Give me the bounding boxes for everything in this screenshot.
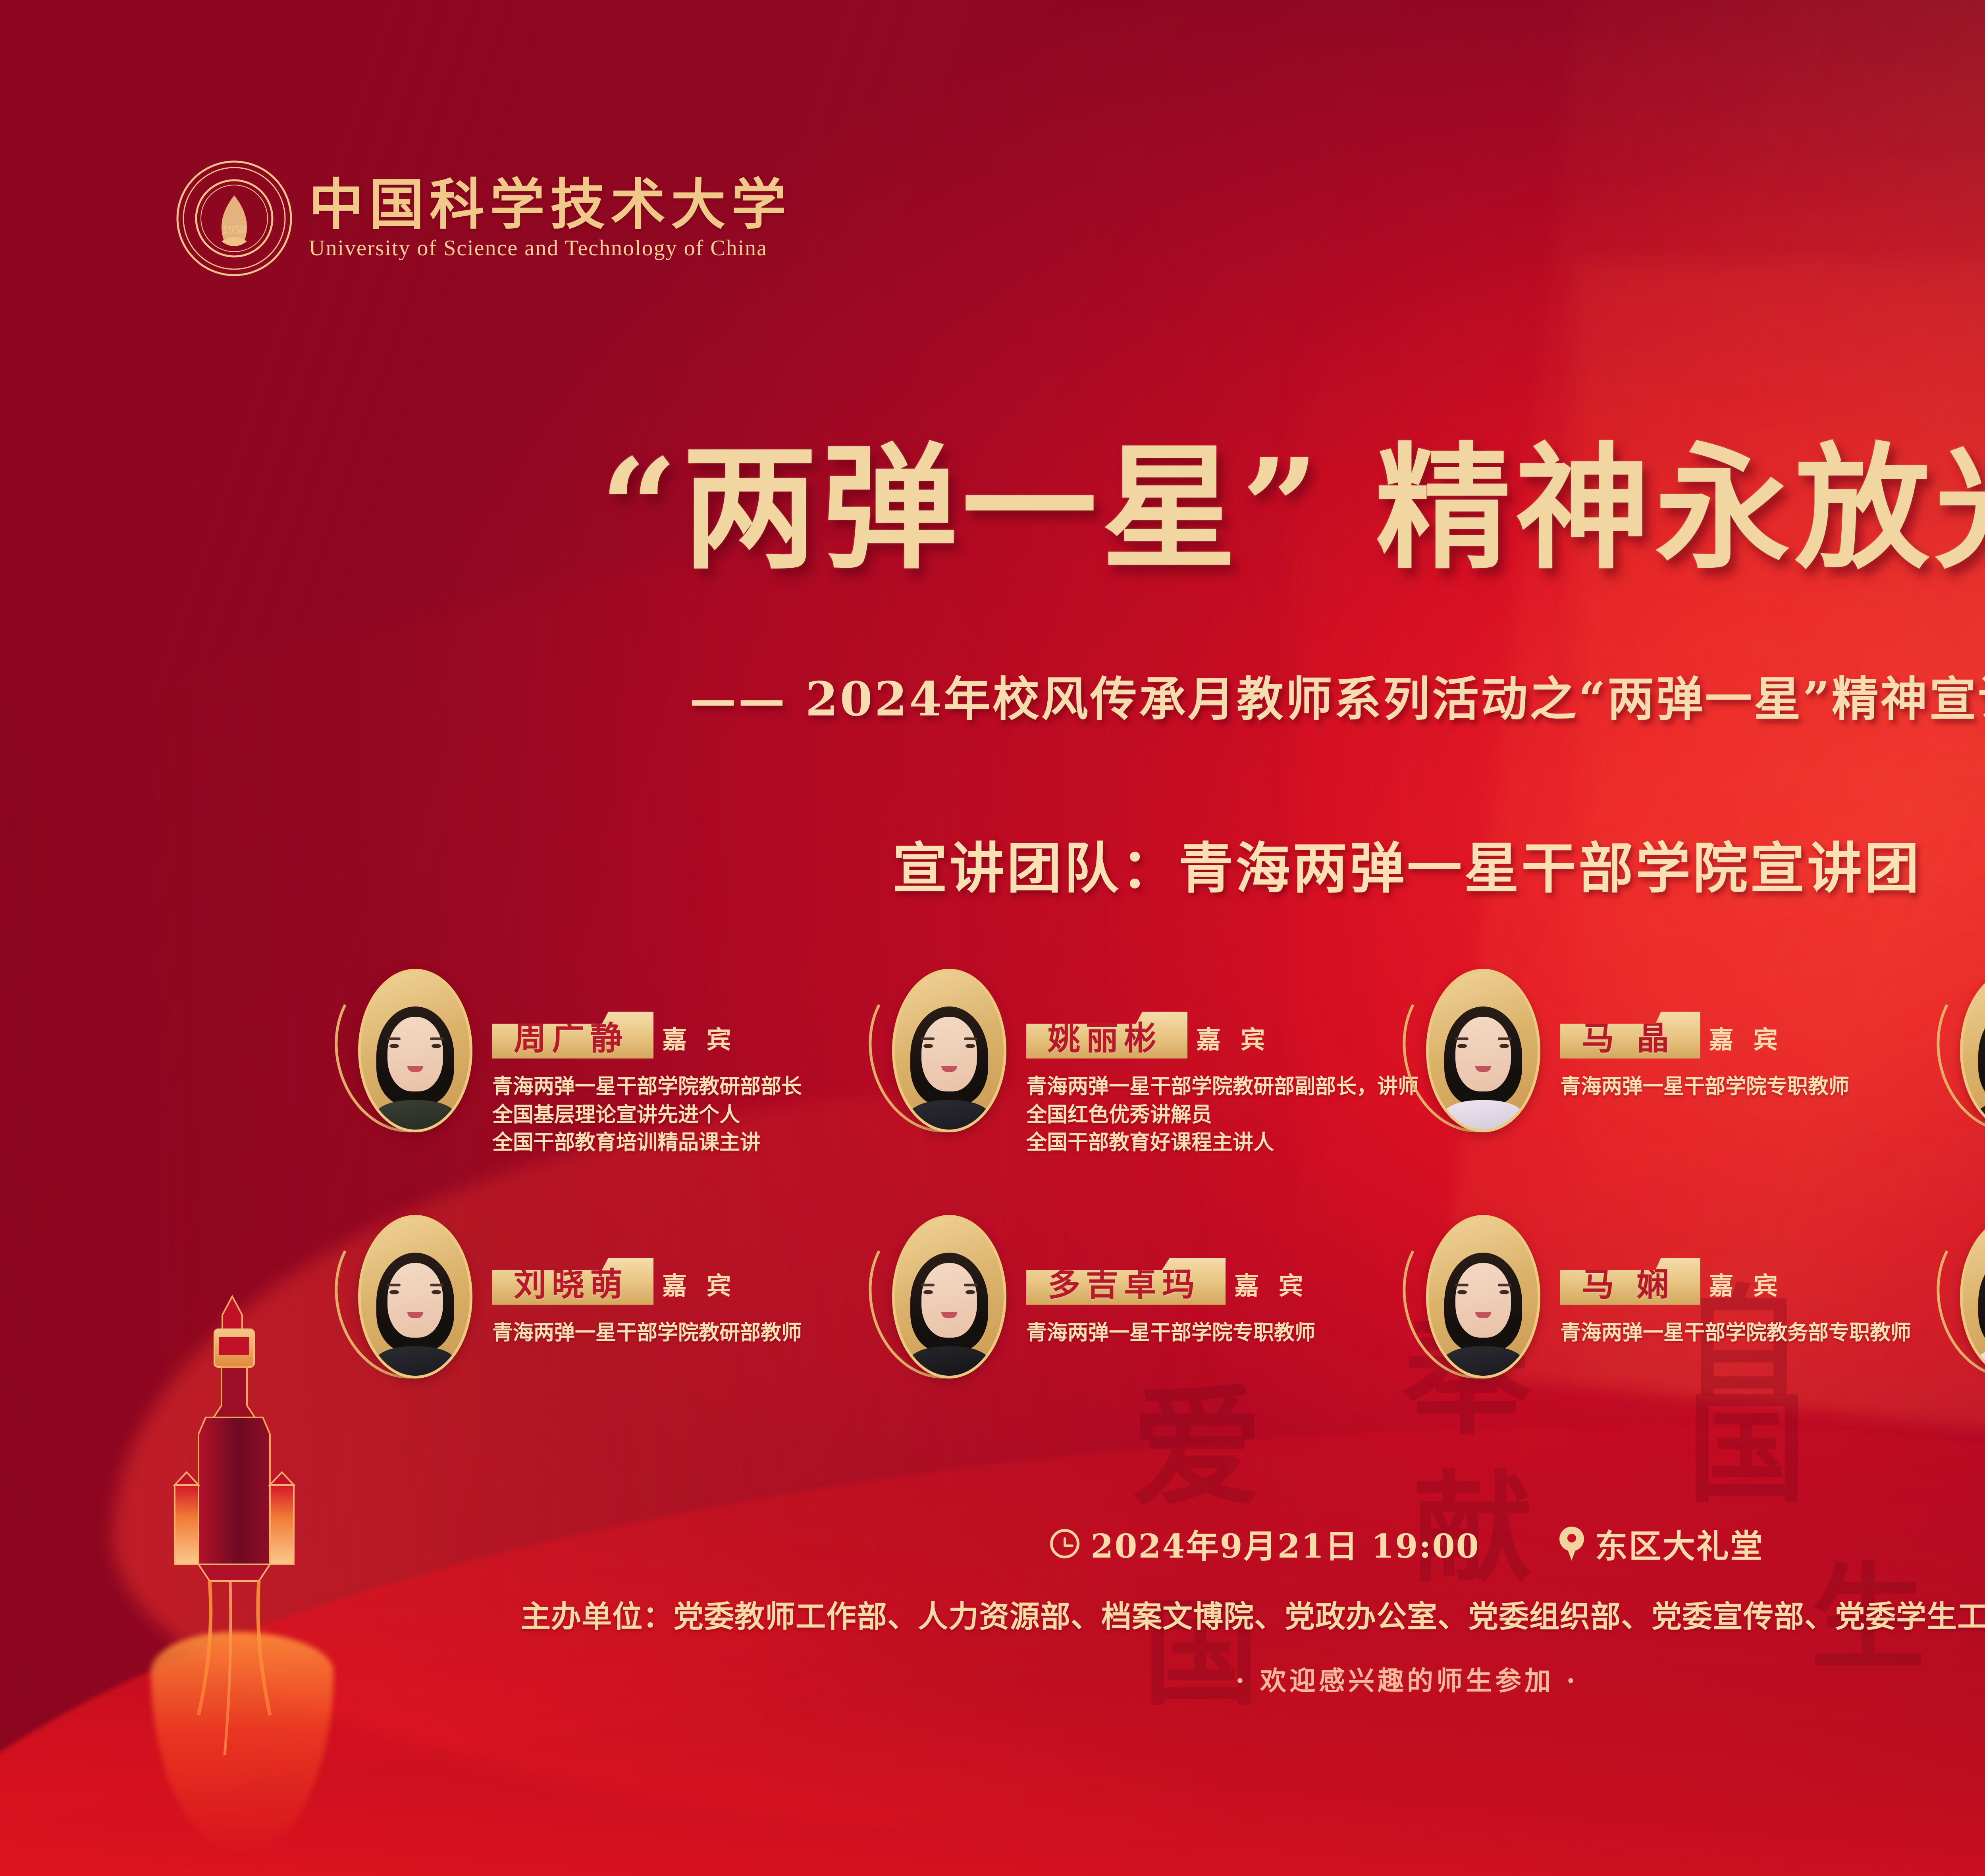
- rocket-illustration: [151, 1286, 333, 1854]
- speaker-credential: 青海两弹一星干部学院教研部教师: [492, 1319, 802, 1347]
- speaker-avatar: [883, 969, 1014, 1136]
- speaker-credentials: 青海两弹一星干部学院教务部专职教师: [1560, 1319, 1911, 1347]
- welcome-note: · 欢迎感兴趣的师生参加 ·: [0, 1660, 1985, 1698]
- speaker-credential: 全国基层理论宣讲先进个人: [492, 1101, 802, 1129]
- speaker-card[interactable]: 姚丽彬嘉 宾青海两弹一星干部学院教研部副部长，讲师全国红色优秀讲解员全国干部教育…: [883, 965, 1417, 1211]
- speaker-name-plate: 刘晓萌: [492, 1258, 653, 1305]
- speaker-credentials: 青海两弹一星干部学院专职教师: [1560, 1073, 1849, 1101]
- speaker-portrait: [1444, 1253, 1522, 1379]
- avatar-frame: [1426, 1215, 1540, 1379]
- speaker-name-row: 刘晓萌嘉 宾: [492, 1258, 653, 1305]
- speaker-role-badge: 嘉 宾: [662, 1020, 737, 1055]
- event-meta-row: 2024年9月21日 19:00 东区大礼堂: [0, 1520, 1985, 1567]
- speaker-name-plate: 马 娴: [1560, 1258, 1700, 1305]
- speaker-credential: 青海两弹一星干部学院教研部部长: [492, 1073, 802, 1101]
- speaker-portrait: [1978, 1006, 1985, 1132]
- speaker-credential: 青海两弹一星干部学院教务部专职教师: [1560, 1319, 1911, 1347]
- speaking-team-line: 宣讲团队：青海两弹一星干部学院宣讲团: [0, 824, 1985, 903]
- speaker-info: 马 娴嘉 宾青海两弹一星干部学院教务部专职教师: [1560, 1211, 1911, 1347]
- poster-subtitle: —— 2024年校风传承月教师系列活动之“两弹一星”精神宣讲活动: [0, 661, 1985, 729]
- speaker-role-badge: 嘉 宾: [1196, 1020, 1271, 1055]
- avatar-frame: [892, 969, 1006, 1132]
- speaker-role-badge: 嘉 宾: [662, 1266, 737, 1301]
- speaker-role-badge: 嘉 宾: [1234, 1266, 1309, 1301]
- speaker-credential: 全国干部教育好课程主讲人: [1026, 1129, 1418, 1157]
- speaker-card[interactable]: 马 晶嘉 宾青海两弹一星干部学院专职教师: [1417, 965, 1951, 1211]
- speaker-card[interactable]: 马 娴嘉 宾青海两弹一星干部学院教务部专职教师: [1417, 1211, 1951, 1457]
- speaker-name-plate: 周广静: [492, 1012, 653, 1059]
- speaker-name: 多吉卓玛: [1048, 1258, 1200, 1305]
- speaker-portrait: [910, 1253, 989, 1379]
- speaker-info: 马 晶嘉 宾青海两弹一星干部学院专职教师: [1560, 965, 1849, 1101]
- speaker-name-row: 马 娴嘉 宾: [1560, 1258, 1700, 1305]
- speaker-info: 姚丽彬嘉 宾青海两弹一星干部学院教研部副部长，讲师全国红色优秀讲解员全国干部教育…: [1026, 965, 1418, 1157]
- speaker-name-row: 周广静嘉 宾: [492, 1012, 653, 1059]
- speaker-avatar: [883, 1215, 1014, 1382]
- avatar-frame: [892, 1215, 1006, 1379]
- event-datetime: 2024年9月21日 19:00: [1091, 1520, 1480, 1567]
- speaker-portrait: [1978, 1253, 1985, 1379]
- speaker-name-plate: 姚丽彬: [1026, 1012, 1187, 1059]
- speaker-avatar: [1417, 1215, 1548, 1382]
- speaker-name: 姚丽彬: [1048, 1012, 1162, 1059]
- speaker-role-badge: 嘉 宾: [1709, 1020, 1784, 1055]
- event-venue: 东区大礼堂: [1595, 1520, 1764, 1567]
- speaker-credentials: 青海两弹一星干部学院教研部部长全国基层理论宣讲先进个人全国干部教育培训精品课主讲: [492, 1073, 802, 1157]
- usc-seal-icon: 1958: [175, 159, 294, 278]
- speaker-credential: 全国红色优秀讲解员: [1026, 1101, 1418, 1129]
- speaker-name: 周广静: [514, 1012, 628, 1059]
- university-logo-block: 1958 中国科学技术大学 University of Science and …: [175, 159, 792, 278]
- speaker-credentials: 青海两弹一星干部学院教研部教师: [492, 1319, 802, 1347]
- organizers-line: 主办单位：党委教师工作部、人力资源部、档案文博院、党政办公室、党委组织部、党委宣…: [0, 1592, 1985, 1636]
- speaker-card[interactable]: 刘晓萌嘉 宾青海两弹一星干部学院教研部教师: [349, 1211, 883, 1457]
- speaker-portrait: [910, 1006, 989, 1132]
- speaker-credentials: 青海两弹一星干部学院专职教师: [1026, 1319, 1315, 1347]
- speaker-role-badge: 嘉 宾: [1709, 1266, 1784, 1301]
- speaker-name-row: 多吉卓玛嘉 宾: [1026, 1258, 1226, 1305]
- speaker-avatar: [1951, 1215, 1985, 1382]
- speaker-info: 刘晓萌嘉 宾青海两弹一星干部学院教研部教师: [492, 1211, 802, 1347]
- speaker-card[interactable]: 屠玉格嘉 宾青海两弹一星干部学院教研部教师: [1951, 1211, 1985, 1457]
- speaker-portrait: [376, 1006, 455, 1132]
- event-datetime-item: 2024年9月21日 19:00: [1050, 1520, 1480, 1567]
- speaker-credential: 青海两弹一星干部学院教研部副部长，讲师: [1026, 1073, 1418, 1101]
- avatar-frame: [358, 1215, 472, 1379]
- speaker-credential: 全国干部教育培训精品课主讲: [492, 1129, 802, 1157]
- clock-icon: [1050, 1529, 1079, 1558]
- avatar-frame: [1426, 969, 1540, 1132]
- speaker-credentials: 青海两弹一星干部学院教研部副部长，讲师全国红色优秀讲解员全国干部教育好课程主讲人: [1026, 1073, 1418, 1157]
- speaker-portrait: [376, 1253, 455, 1379]
- speaker-avatar: [1951, 969, 1985, 1136]
- speaker-card[interactable]: 韩晓勇嘉 宾青海两弹一星干部学院专职教师: [1951, 965, 1985, 1211]
- speaker-name: 马 娴: [1582, 1258, 1675, 1305]
- university-name-cn: 中国科学技术大学: [309, 176, 792, 233]
- university-name-en: University of Science and Technology of …: [309, 235, 792, 261]
- poster-main-title: “两弹一星” 精神永放光芒: [0, 399, 1985, 594]
- speaker-card[interactable]: 多吉卓玛嘉 宾青海两弹一星干部学院专职教师: [883, 1211, 1417, 1457]
- speaker-name-row: 姚丽彬嘉 宾: [1026, 1012, 1187, 1059]
- speaker-name: 刘晓萌: [514, 1258, 628, 1305]
- seal-year: 1958: [222, 223, 246, 236]
- speakers-grid: 周广静嘉 宾青海两弹一星干部学院教研部部长全国基层理论宣讲先进个人全国干部教育培…: [349, 965, 1985, 1457]
- location-pin-icon: [1559, 1527, 1584, 1561]
- speaker-avatar: [349, 1215, 480, 1382]
- speaker-info: 多吉卓玛嘉 宾青海两弹一星干部学院专职教师: [1026, 1211, 1315, 1347]
- speaker-name-plate: 多吉卓玛: [1026, 1258, 1226, 1305]
- speaker-credential: 青海两弹一星干部学院专职教师: [1026, 1319, 1315, 1347]
- speaker-name-row: 马 晶嘉 宾: [1560, 1012, 1700, 1059]
- speaker-card[interactable]: 周广静嘉 宾青海两弹一星干部学院教研部部长全国基层理论宣讲先进个人全国干部教育培…: [349, 965, 883, 1211]
- speaker-name: 马 晶: [1582, 1012, 1675, 1059]
- speaker-name-plate: 马 晶: [1560, 1012, 1700, 1059]
- speaker-info: 周广静嘉 宾青海两弹一星干部学院教研部部长全国基层理论宣讲先进个人全国干部教育培…: [492, 965, 802, 1157]
- university-name-block: 中国科学技术大学 University of Science and Techn…: [309, 176, 792, 261]
- avatar-frame: [358, 969, 472, 1132]
- speaker-portrait: [1444, 1006, 1522, 1132]
- speaker-credential: 青海两弹一星干部学院专职教师: [1560, 1073, 1849, 1101]
- poster-canvas: 爱奉自力于国生献同攀登国: [0, 0, 1985, 1876]
- speaker-avatar: [1417, 969, 1548, 1136]
- event-venue-item: 东区大礼堂: [1559, 1520, 1764, 1567]
- speaker-avatar: [349, 969, 480, 1136]
